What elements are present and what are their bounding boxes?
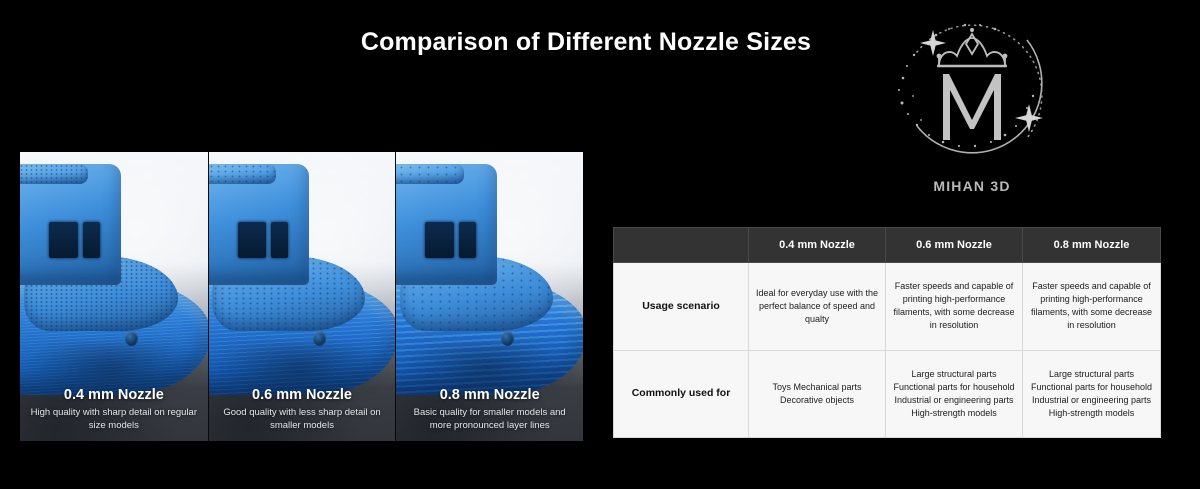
comparison-table-container: 0.4 mm Nozzle 0.6 mm Nozzle 0.8 mm Nozzl…: [613, 227, 1160, 438]
row-label-usage-scenario: Usage scenario: [614, 263, 749, 351]
cell-usage-0-6mm: Faster speeds and capable of printing hi…: [886, 263, 1023, 351]
table-header-blank: [614, 228, 749, 263]
table-row: Usage scenario Ideal for everyday use wi…: [614, 263, 1161, 351]
table-row: Commonly used for Toys Mechanical parts …: [614, 350, 1161, 438]
cell-usedfor-0-4mm: Toys Mechanical parts Decorative objects: [749, 350, 886, 438]
caption-title: 0.8 mm Nozzle: [404, 387, 575, 403]
table-header-0-4mm: 0.4 mm Nozzle: [749, 228, 886, 263]
photo-caption: 0.4 mm Nozzle High quality with sharp de…: [20, 387, 208, 433]
comparison-table: 0.4 mm Nozzle 0.6 mm Nozzle 0.8 mm Nozzl…: [613, 227, 1161, 438]
photo-panel-0-8mm: 0.8 mm Nozzle Basic quality for smaller …: [395, 152, 583, 441]
infographic-page: Comparison of Different Nozzle Sizes: [0, 0, 1200, 489]
cell-usage-0-4mm: Ideal for everyday use with the perfect …: [749, 263, 886, 351]
caption-description: Good quality with less sharp detail on s…: [217, 407, 388, 433]
crown-monogram-icon: [877, 8, 1067, 183]
caption-description: High quality with sharp detail on regula…: [28, 407, 200, 433]
photo-panel-0-6mm: 0.6 mm Nozzle Good quality with less sha…: [208, 152, 396, 441]
cell-usage-0-8mm: Faster speeds and capable of printing hi…: [1023, 263, 1161, 351]
table-header-0-6mm: 0.6 mm Nozzle: [886, 228, 1023, 263]
letter-m-glyph: [943, 74, 1001, 140]
row-label-commonly-used-for: Commonly used for: [614, 350, 749, 438]
brand-logo: MIHAN 3D: [877, 8, 1067, 203]
caption-description: Basic quality for smaller models and mor…: [404, 407, 575, 433]
cell-usedfor-0-6mm: Large structural parts Functional parts …: [886, 350, 1023, 438]
photo-caption: 0.8 mm Nozzle Basic quality for smaller …: [396, 387, 583, 433]
photo-caption: 0.6 mm Nozzle Good quality with less sha…: [209, 387, 396, 433]
brand-name: MIHAN 3D: [877, 178, 1067, 194]
caption-title: 0.6 mm Nozzle: [217, 387, 388, 403]
table-header-0-8mm: 0.8 mm Nozzle: [1023, 228, 1161, 263]
nozzle-photo-strip: 0.4 mm Nozzle High quality with sharp de…: [20, 152, 583, 441]
table-header-row: 0.4 mm Nozzle 0.6 mm Nozzle 0.8 mm Nozzl…: [614, 228, 1161, 263]
photo-panel-0-4mm: 0.4 mm Nozzle High quality with sharp de…: [20, 152, 208, 441]
cell-usedfor-0-8mm: Large structural parts Functional parts …: [1023, 350, 1161, 438]
caption-title: 0.4 mm Nozzle: [28, 387, 200, 403]
